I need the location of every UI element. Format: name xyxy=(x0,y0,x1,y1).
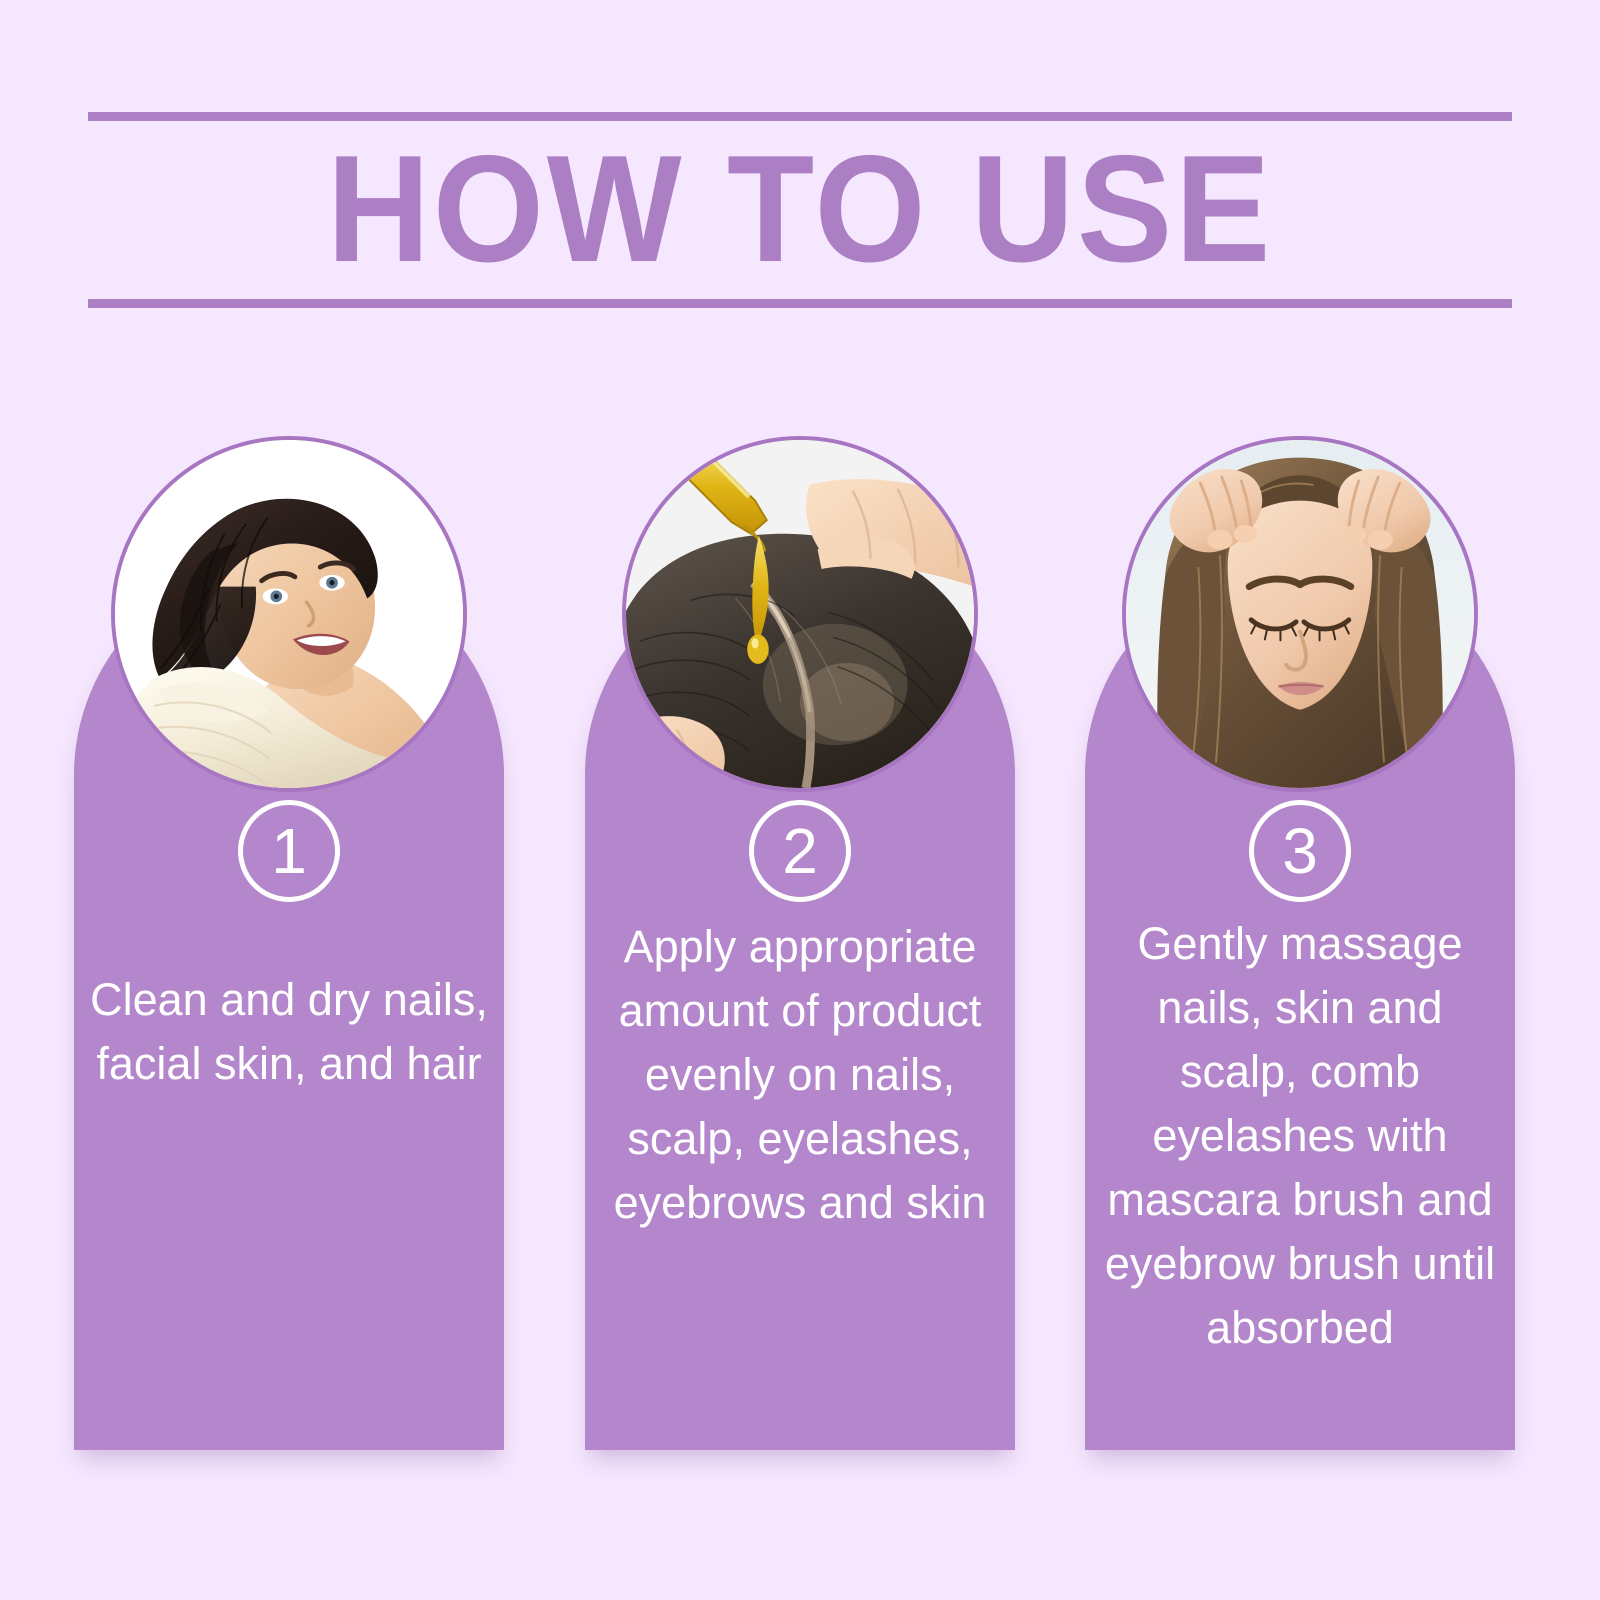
step-card-2[interactable]: 2 Apply appropriate amount of product ev… xyxy=(585,560,1015,1450)
steps-container: 1 Clean and dry nails, facial skin, and … xyxy=(0,0,1600,1600)
step-card-3[interactable]: 3 Gently massage nails, skin and scalp, … xyxy=(1085,560,1515,1450)
step-2-text: Apply appropriate amount of product even… xyxy=(599,915,1001,1235)
step-1-text: Clean and dry nails, facial skin, and ha… xyxy=(88,968,490,1096)
step-1-photo xyxy=(111,436,467,792)
step-2-badge: 2 xyxy=(749,800,851,902)
step-card-1[interactable]: 1 Clean and dry nails, facial skin, and … xyxy=(74,560,504,1450)
step-2-photo xyxy=(622,436,978,792)
step-3-badge: 3 xyxy=(1249,800,1351,902)
step-3-text: Gently massage nails, skin and scalp, co… xyxy=(1099,912,1501,1360)
step-3-number: 3 xyxy=(1282,819,1318,883)
step-2-number: 2 xyxy=(782,819,818,883)
step-3-photo xyxy=(1122,436,1478,792)
step-1-number: 1 xyxy=(271,819,307,883)
how-to-use-infographic: HOW TO USE xyxy=(0,0,1600,1600)
step-1-badge: 1 xyxy=(238,800,340,902)
